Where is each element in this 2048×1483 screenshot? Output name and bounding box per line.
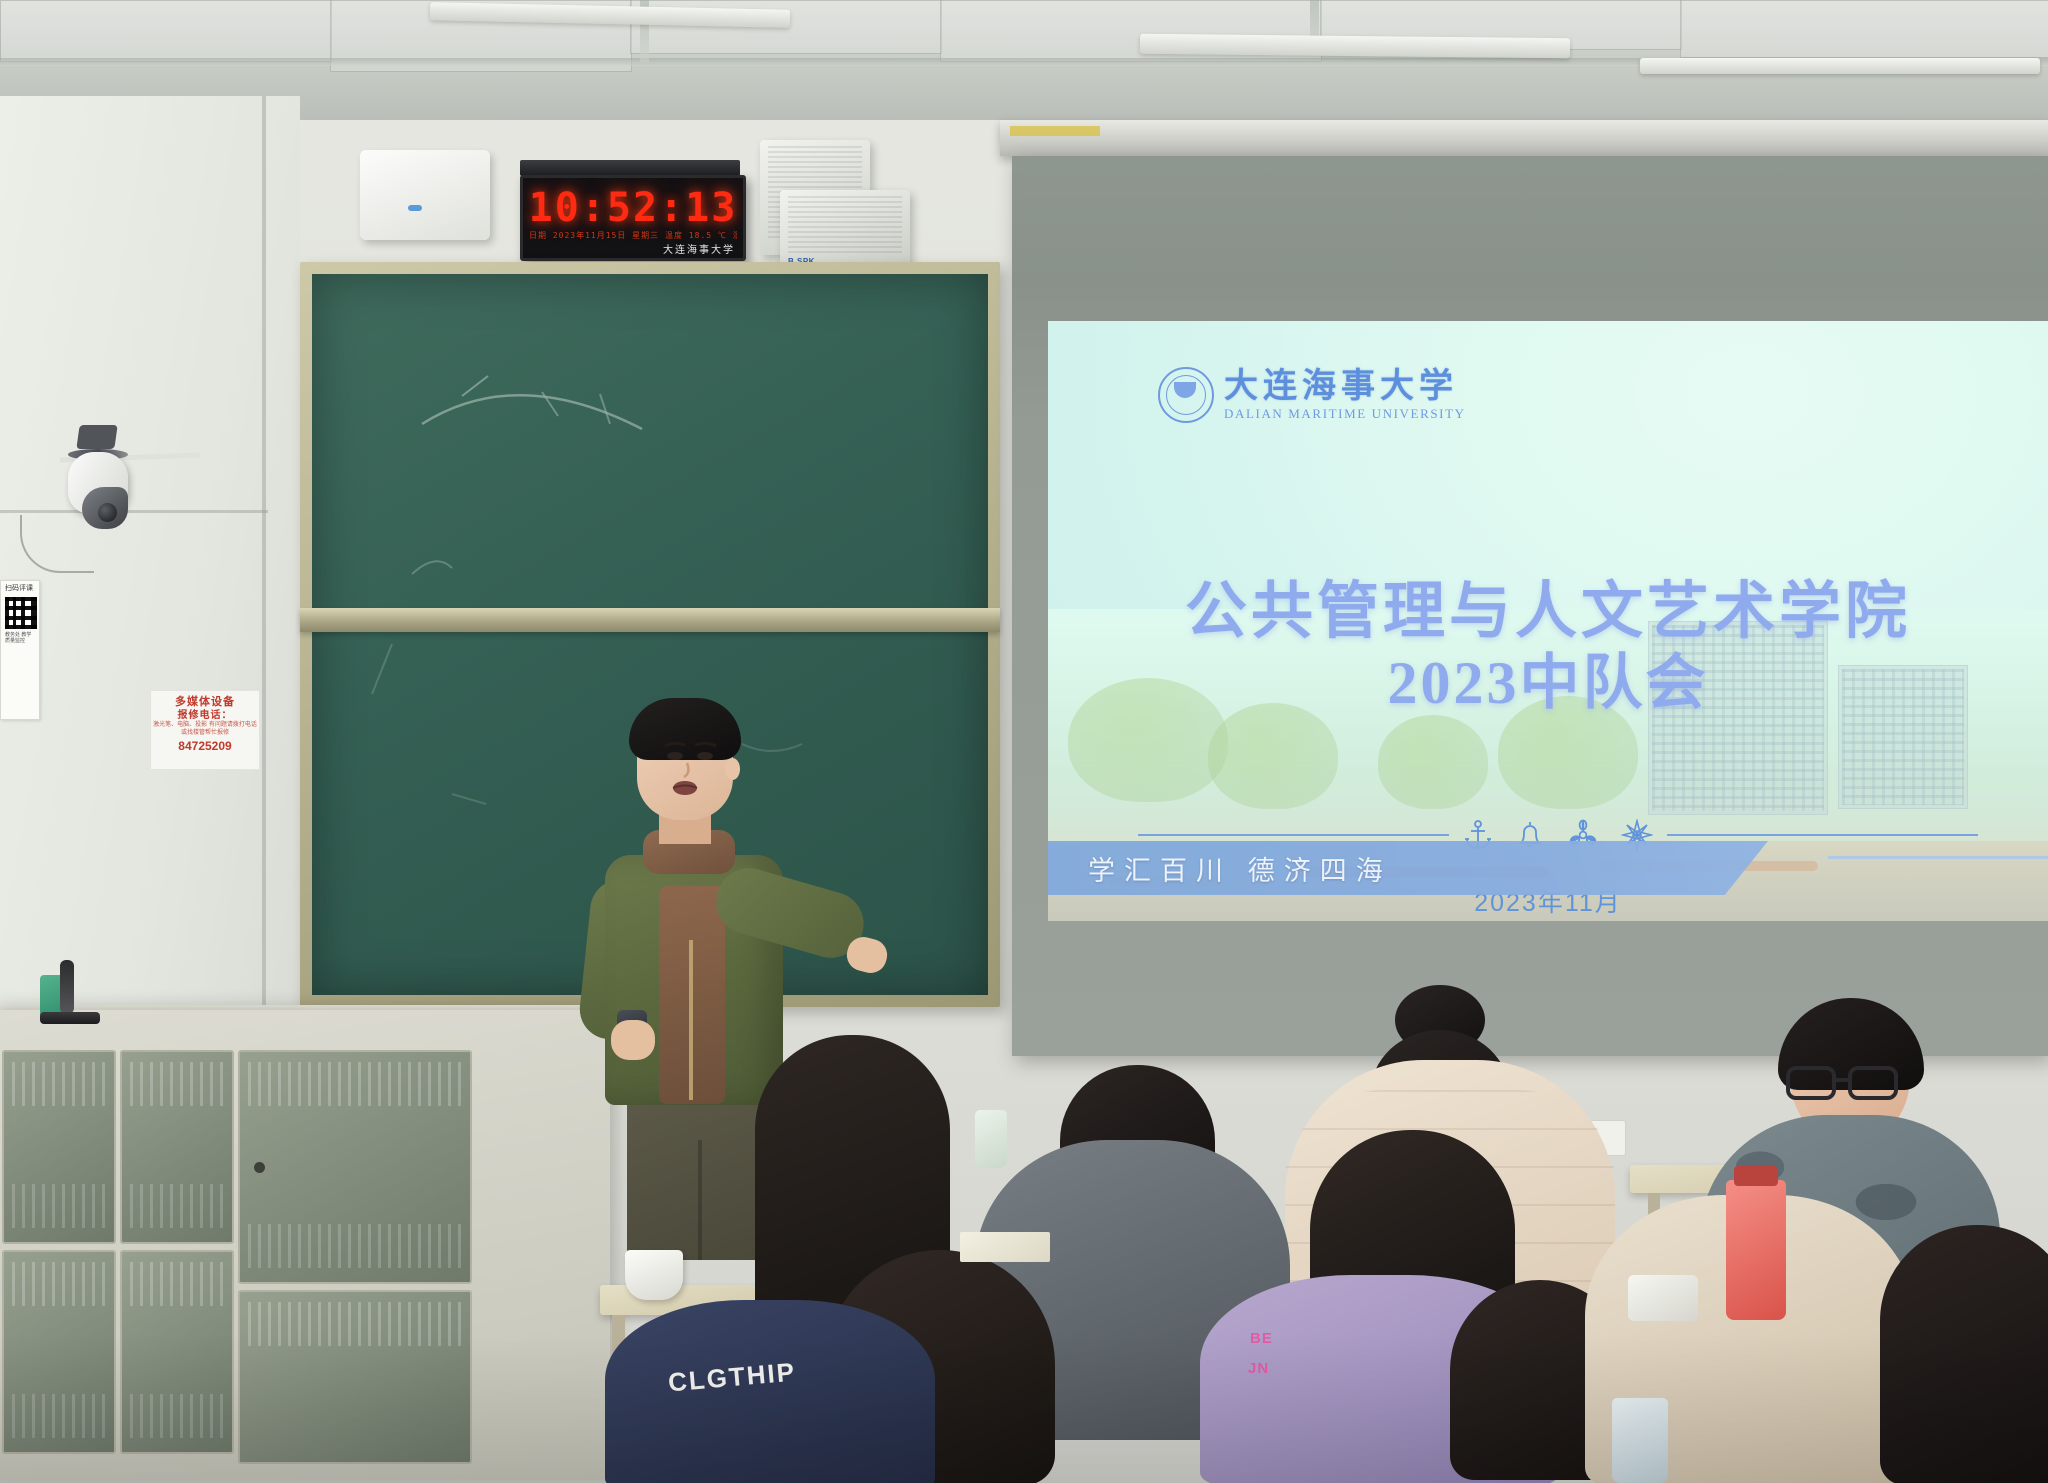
projection-screen: 大连海事大学 DALIAN MARITIME UNIVERSITY 公共管理与人… (1012, 156, 2048, 1056)
presenter-zipper (689, 940, 693, 1100)
wall-seam (0, 510, 268, 513)
ceiling-light (1640, 58, 2040, 74)
presentation-slide: 大连海事大学 DALIAN MARITIME UNIVERSITY 公共管理与人… (1048, 321, 2048, 921)
student-hair (1880, 1225, 2048, 1483)
clock-mount (520, 160, 740, 176)
slide-motto-ribbon: 学汇百川 德济四海 (1048, 841, 1768, 895)
ceiling-panel (0, 0, 332, 62)
notice-line-1: 多媒体设备 (151, 695, 259, 709)
notice-line-3: 激光笔、电脑、投影 有问题请拨打电话 或找楼管帮忙报修 (151, 722, 259, 737)
clock-time-display: 10:52:13 (523, 185, 743, 231)
projector-screen-housing (1000, 120, 2048, 156)
qr-card-subtitle: 教务处 教学质量监控 (5, 632, 35, 644)
hoodie-graphic-text: JN (1248, 1360, 1269, 1377)
cabinet-vent (248, 1224, 462, 1268)
cabinet-vent (12, 1262, 106, 1306)
qr-code-icon (5, 597, 37, 629)
university-logo: 大连海事大学 DALIAN MARITIME UNIVERSITY (1158, 367, 1466, 423)
logo-english-name: DALIAN MARITIME UNIVERSITY (1224, 406, 1466, 422)
slide-title-line-1: 公共管理与人文艺术学院 (1048, 576, 2048, 648)
cabinet-door (120, 1250, 234, 1454)
microphone-icon (60, 960, 74, 1014)
divider-bar-left (1138, 834, 1449, 836)
water-bottle-pink (1726, 1180, 1786, 1320)
qr-card-title: 扫码评课 (5, 585, 35, 593)
presenter-leg-seam (698, 1140, 702, 1260)
presenter-left-hand (611, 1020, 655, 1060)
housing-tape (1010, 126, 1100, 136)
camera-top-cap (76, 425, 117, 449)
student-body-navy-tee (605, 1300, 935, 1483)
presenter-face-features (637, 708, 747, 828)
notice-phone-number: 84725209 (151, 739, 259, 753)
cabinet-vent (130, 1062, 224, 1106)
dmu-crest-icon (1158, 367, 1214, 423)
cabinet-door (238, 1290, 472, 1464)
wall-seam (262, 96, 266, 1096)
microphone-base (40, 1012, 100, 1024)
photo-tree (1378, 715, 1488, 809)
water-bottle-small (975, 1110, 1007, 1168)
motto-text: 学汇百川 德济四海 (1088, 849, 1392, 888)
classroom-photo: 扫码评课 教务处 教学质量监控 多媒体设备 报修电话： 激光笔、电脑、投影 有问… (0, 0, 2048, 1483)
desk-notebook (960, 1232, 1050, 1262)
cabinet-vent (130, 1184, 224, 1228)
cabinet-door (238, 1050, 472, 1284)
student-glasses-icon (1780, 1060, 1930, 1110)
divider-bar-right (1667, 834, 1978, 836)
speaker-grill (788, 196, 902, 256)
ceiling-panel (1680, 0, 2048, 58)
slide-title-line-2: 2023中队会 (1048, 648, 2048, 718)
cabinet-vent (248, 1062, 462, 1106)
clock-brand-label: 大连海事大学 (663, 241, 735, 256)
slide-title: 公共管理与人文艺术学院 2023中队会 (1048, 576, 2048, 718)
camera-eye (98, 503, 117, 522)
tissue-pack (1628, 1275, 1698, 1321)
cabinet-door (120, 1050, 234, 1244)
notice-line-2: 报修电话： (151, 709, 259, 722)
cabinet-knob[interactable] (254, 1162, 265, 1173)
cabinet-vent (12, 1394, 106, 1438)
wifi-status-led-icon (408, 205, 422, 211)
cabinet-vent (130, 1394, 224, 1438)
logo-chinese-name: 大连海事大学 (1224, 369, 1466, 405)
water-bottle-clear (1612, 1398, 1668, 1483)
hoodie-graphic-text: BE (1250, 1330, 1273, 1347)
digital-clock: 10:52:13 日期 2023年11月15日 星期三 温度 18.5 ℃ 湿度… (520, 175, 746, 261)
cabinet-vent (12, 1062, 106, 1106)
blackboard-chalk-tray (300, 608, 1000, 632)
podium-cabinet (0, 1010, 610, 1480)
cabinet-vent (248, 1302, 462, 1346)
bottle-cap (1734, 1166, 1778, 1186)
multimedia-repair-notice: 多媒体设备 报修电话： 激光笔、电脑、投影 有问题请拨打电话 或找楼管帮忙报修 … (150, 690, 260, 770)
wifi-access-point (360, 150, 490, 240)
clock-secondary-display: 日期 2023年11月15日 星期三 温度 18.5 ℃ 湿度 30.0 % (529, 230, 737, 241)
cabinet-door (2, 1250, 116, 1454)
paper-cup (625, 1250, 683, 1300)
ribbon-accent-line (1828, 856, 2048, 859)
cabinet-vent (12, 1184, 106, 1228)
cabinet-door (2, 1050, 116, 1244)
qr-evaluation-card: 扫码评课 教务处 教学质量监控 (0, 580, 40, 720)
photo-tree (1208, 703, 1338, 809)
speaker-right: B SPK (780, 190, 910, 270)
cabinet-vent (130, 1262, 224, 1306)
